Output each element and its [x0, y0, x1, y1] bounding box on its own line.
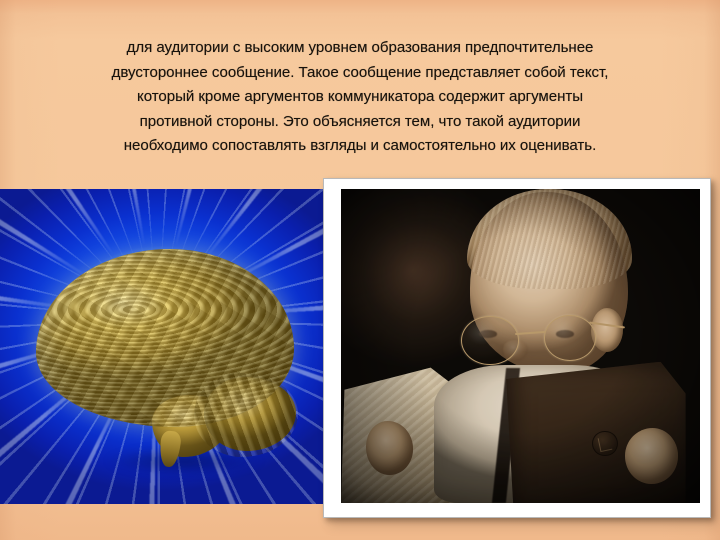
photo-sepia-tone [341, 189, 700, 503]
brain-image [0, 189, 334, 504]
body-text-line-1: для аудитории с высоким уровнем образова… [28, 36, 692, 61]
child-reading-photo [341, 189, 700, 503]
body-text-line-5: необходимо сопоставлять взгляды и самост… [28, 134, 692, 159]
child-photo-frame [323, 178, 711, 518]
body-text-block: для аудитории с высоким уровнем образова… [28, 36, 692, 159]
slide-canvas: для аудитории с высоким уровнем образова… [0, 0, 720, 540]
body-text-line-4: противной стороны. Это объясняется тем, … [28, 110, 692, 135]
brain-illustration [34, 245, 300, 467]
body-text-line-2: двустороннее сообщение. Такое сообщение … [28, 61, 692, 86]
brain-cerebellum-texture [194, 373, 298, 457]
body-text-line-3: который кроме аргументов коммуникатора с… [28, 85, 692, 110]
